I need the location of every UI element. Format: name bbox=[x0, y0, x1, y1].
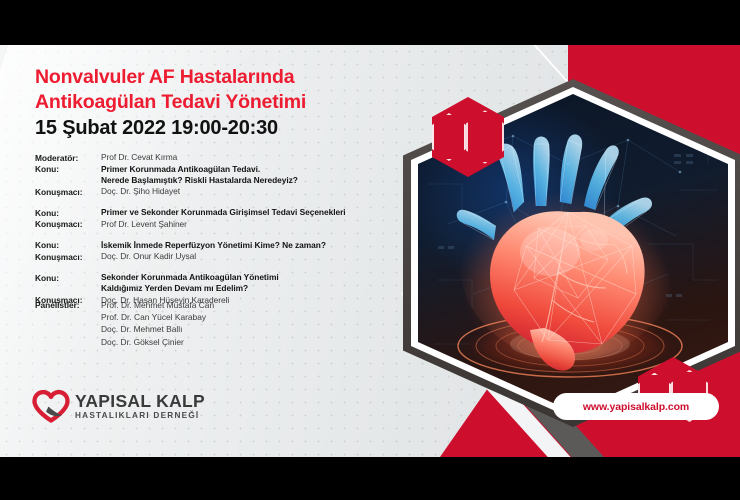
speaker-row: Konuşmacı: Doç. Dr. Onur Kadir Uysal bbox=[35, 251, 420, 263]
speaker-row: Konuşmacı: Prof Dr. Levent Şahiner bbox=[35, 219, 420, 231]
session-block: Moderatör: Prof Dr. Cevat Kırma Konu: Pr… bbox=[35, 152, 420, 198]
panelists-names: Prof. Dr. Mehmet Mustafa Can Prof. Dr. C… bbox=[101, 299, 214, 348]
website-pill[interactable]: www.yapisalkalp.com bbox=[553, 393, 719, 420]
moderator-row: Moderatör: Prof Dr. Cevat Kırma bbox=[35, 152, 420, 164]
logo-text-group: YAPISAL KALP HASTALIKLARI DERNEĞİ bbox=[75, 393, 205, 420]
speaker-label: Konuşmacı: bbox=[35, 251, 101, 263]
poster-datetime: 15 Şubat 2022 19:00-20:30 bbox=[35, 117, 278, 140]
topic-line-2: Nerede Başlamıştık? Riskli Hastalarda Ne… bbox=[101, 175, 298, 186]
website-url: www.yapisalkalp.com bbox=[583, 401, 689, 413]
poster-root: Nonvalvuler AF Hastalarında Antikoagülan… bbox=[0, 0, 740, 500]
speaker-name: Doç. Dr. Onur Kadir Uysal bbox=[101, 251, 196, 262]
speaker-label: Konuşmacı: bbox=[35, 219, 101, 231]
topic-row: Konu: Primer Korunmada Antikoagülan Teda… bbox=[35, 164, 420, 187]
session-block: Konu: Primer ve Sekonder Korunmada Giriş… bbox=[35, 207, 420, 231]
session-block: Konu: İskemik İnmede Reperfüzyon Yönetim… bbox=[35, 240, 420, 264]
topic-row: Konu: İskemik İnmede Reperfüzyon Yönetim… bbox=[35, 240, 420, 252]
program-list: Moderatör: Prof Dr. Cevat Kırma Konu: Pr… bbox=[35, 152, 420, 306]
panelists-row: Panelistler: Prof. Dr. Mehmet Mustafa Ca… bbox=[35, 299, 420, 348]
panelist-name: Doç. Dr. Göksel Çinier bbox=[101, 336, 214, 348]
speaker-row: Konuşmacı: Doç. Dr. Şiho Hidayet bbox=[35, 186, 420, 198]
poster-title-line-2: Antikoagülan Tedavi Yönetimi bbox=[35, 90, 405, 115]
letterbox-top bbox=[0, 0, 740, 45]
topic-line-1: Primer Korunmada Antikoagülan Tedavi. bbox=[101, 164, 298, 175]
panelist-name: Prof. Dr. Mehmet Mustafa Can bbox=[101, 299, 214, 311]
topic-label: Konu: bbox=[35, 272, 101, 284]
panelist-name: Prof. Dr. Can Yücel Karabay bbox=[101, 311, 214, 323]
moderator-label: Moderatör: bbox=[35, 152, 101, 164]
panelist-name: Doç. Dr. Mehmet Ballı bbox=[101, 323, 214, 335]
speaker-name: Doç. Dr. Şiho Hidayet bbox=[101, 186, 180, 197]
topic-line-1: Primer ve Sekonder Korunmada Girişimsel … bbox=[101, 207, 346, 218]
topic-line-1: İskemik İnmede Reperfüzyon Yönetimi Kime… bbox=[101, 240, 326, 251]
poster-title: Nonvalvuler AF Hastalarında Antikoagülan… bbox=[35, 65, 405, 115]
hexagon-badge-top-ring bbox=[432, 113, 466, 161]
topic-label: Konu: bbox=[35, 207, 101, 219]
panelists-label: Panelistler: bbox=[35, 299, 101, 311]
speaker-name: Prof Dr. Levent Şahiner bbox=[101, 219, 187, 230]
topic-line-2: Kaldığımız Yerden Devam mı Edelim? bbox=[101, 283, 279, 294]
topic-row: Konu: Primer ve Sekonder Korunmada Giriş… bbox=[35, 207, 420, 219]
topic-line-1: Sekonder Korunmada Antikoagülan Yönetimi bbox=[101, 272, 279, 283]
heart-logo-icon bbox=[32, 390, 70, 423]
letterbox-bottom bbox=[0, 457, 740, 500]
panelists-section: Panelistler: Prof. Dr. Mehmet Mustafa Ca… bbox=[35, 299, 420, 348]
topic-text: Sekonder Korunmada Antikoagülan Yönetimi… bbox=[101, 272, 279, 295]
poster-artboard: Nonvalvuler AF Hastalarında Antikoagülan… bbox=[0, 45, 740, 457]
topic-text: Primer Korunmada Antikoagülan Tedavi. Ne… bbox=[101, 164, 298, 187]
speaker-label: Konuşmacı: bbox=[35, 186, 101, 198]
logo-sub-text: HASTALIKLARI DERNEĞİ bbox=[75, 412, 205, 420]
poster-title-line-1: Nonvalvuler AF Hastalarında bbox=[35, 65, 405, 90]
moderator-name: Prof Dr. Cevat Kırma bbox=[101, 152, 177, 163]
topic-label: Konu: bbox=[35, 164, 101, 176]
logo-main-text: YAPISAL KALP bbox=[75, 393, 205, 411]
organization-logo: YAPISAL KALP HASTALIKLARI DERNEĞİ bbox=[32, 390, 205, 423]
topic-row: Konu: Sekonder Korunmada Antikoagülan Yö… bbox=[35, 272, 420, 295]
topic-label: Konu: bbox=[35, 240, 101, 252]
